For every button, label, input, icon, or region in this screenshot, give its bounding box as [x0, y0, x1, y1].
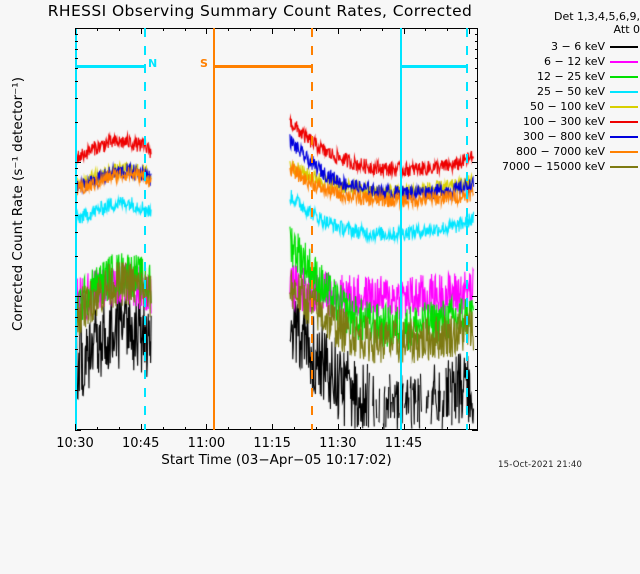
tick-mark: [338, 424, 339, 430]
legend-label: 12 − 25 keV: [502, 69, 610, 84]
tick-mark: [447, 28, 448, 31]
tick-mark: [475, 49, 478, 50]
tick-mark: [472, 28, 478, 29]
tick-mark: [475, 122, 478, 123]
tick-mark: [475, 336, 478, 337]
tick-mark: [75, 58, 78, 59]
tick-mark: [75, 296, 81, 297]
legend-swatch: [610, 106, 638, 108]
legend-entries: 3 − 6 keV6 − 12 keV12 − 25 keV25 − 50 ke…: [502, 39, 640, 174]
legend-swatch: [610, 46, 638, 48]
tick-mark: [75, 49, 78, 50]
tick-mark: [316, 28, 317, 31]
tick-mark: [475, 317, 478, 318]
tick-mark: [475, 302, 478, 303]
x-axis-title: Start Time (03−Apr−05 10:17:02): [75, 452, 478, 468]
tick-mark: [475, 192, 478, 193]
tick-mark: [294, 28, 295, 31]
tick-mark: [75, 162, 81, 163]
tick-mark: [425, 28, 426, 31]
legend-item: 25 − 50 keV: [502, 84, 640, 99]
tick-mark: [163, 427, 164, 430]
tick-mark: [75, 98, 78, 99]
tick-mark: [75, 366, 78, 367]
tick-mark: [469, 28, 470, 34]
event-bar-saa: [213, 65, 311, 68]
legend-swatch-cell: [610, 144, 640, 159]
legend-label: 3 − 6 keV: [502, 39, 610, 54]
x-tick-label: 11:45: [364, 436, 444, 451]
event-bar-night-2: [400, 65, 466, 68]
tick-mark: [475, 390, 478, 391]
tick-mark: [425, 427, 426, 430]
tick-mark: [75, 336, 78, 337]
tick-mark: [75, 122, 78, 123]
tick-mark: [475, 256, 478, 257]
legend-swatch: [610, 91, 638, 93]
tick-mark: [75, 68, 78, 69]
legend-label: 50 − 100 keV: [502, 99, 610, 114]
tick-mark: [141, 424, 142, 430]
event-flag-saa: S: [200, 57, 208, 70]
tick-mark: [75, 326, 78, 327]
tick-mark: [228, 28, 229, 31]
tick-mark: [75, 424, 76, 430]
tick-mark: [75, 430, 81, 431]
tick-mark: [75, 28, 76, 34]
legend-swatch-cell: [610, 129, 640, 144]
tick-mark: [404, 28, 405, 34]
tick-mark: [472, 296, 478, 297]
legend-item: 7000 − 15000 keV: [502, 159, 640, 174]
legend-swatch-cell: [610, 114, 640, 129]
tick-mark: [404, 424, 405, 430]
legend-swatch: [610, 166, 638, 168]
tick-mark: [294, 427, 295, 430]
tick-mark: [119, 28, 120, 31]
legend-swatch-cell: [610, 54, 640, 69]
tick-mark: [75, 192, 78, 193]
tick-mark: [141, 28, 142, 34]
tick-mark: [97, 28, 98, 31]
tick-mark: [475, 326, 478, 327]
tick-mark: [475, 202, 478, 203]
event-dash-night-1: [144, 28, 146, 430]
tick-mark: [250, 28, 251, 31]
legend-swatch: [610, 76, 638, 78]
tick-mark: [475, 309, 478, 310]
legend-swatch-cell: [610, 39, 640, 54]
tick-mark: [75, 202, 78, 203]
tick-mark: [475, 98, 478, 99]
tick-mark: [475, 215, 478, 216]
tick-mark: [163, 28, 164, 31]
legend-label: 25 − 50 keV: [502, 84, 610, 99]
legend-item: 300 − 800 keV: [502, 129, 640, 144]
event-dash-night-2: [466, 28, 468, 430]
tick-mark: [475, 58, 478, 59]
legend-item: 100 − 300 keV: [502, 114, 640, 129]
tick-mark: [75, 175, 78, 176]
legend-swatch-cell: [610, 69, 640, 84]
tick-mark: [475, 349, 478, 350]
tick-mark: [75, 41, 78, 42]
tick-mark: [75, 349, 78, 350]
legend: Det 1,3,4,5,6,9, Att 0 3 − 6 keV6 − 12 k…: [486, 10, 640, 174]
tick-mark: [469, 424, 470, 430]
y-axis-highlight: [75, 28, 77, 430]
legend-swatch-cell: [610, 99, 640, 114]
tick-mark: [75, 317, 78, 318]
legend-label: 6 − 12 keV: [502, 54, 610, 69]
legend-label: 300 − 800 keV: [502, 129, 610, 144]
tick-mark: [75, 81, 78, 82]
tick-mark: [475, 232, 478, 233]
plot-area: NS: [75, 28, 478, 430]
tick-mark: [250, 427, 251, 430]
tick-mark: [75, 256, 78, 257]
tick-mark: [75, 302, 78, 303]
legend-label: 7000 − 15000 keV: [502, 159, 610, 174]
event-bar-night-1: [76, 65, 144, 68]
event-dash-saa: [311, 28, 313, 430]
tick-mark: [475, 183, 478, 184]
tick-mark: [475, 81, 478, 82]
legend-swatch-cell: [610, 84, 640, 99]
legend-item: 12 − 25 keV: [502, 69, 640, 84]
tick-mark: [338, 28, 339, 34]
tick-mark: [447, 427, 448, 430]
event-line-saa: [213, 28, 215, 430]
tick-mark: [75, 309, 78, 310]
tick-mark: [382, 28, 383, 31]
tick-mark: [475, 168, 478, 169]
tick-mark: [185, 28, 186, 31]
tick-mark: [97, 427, 98, 430]
legend-item: 50 − 100 keV: [502, 99, 640, 114]
rhessi-plot-window: RHESSI Observing Summary Count Rates, Co…: [0, 0, 640, 480]
tick-mark: [206, 424, 207, 430]
tick-mark: [228, 427, 229, 430]
tick-mark: [475, 175, 478, 176]
tick-mark: [272, 424, 273, 430]
event-line-night-2: [400, 28, 402, 430]
tick-mark: [75, 215, 78, 216]
legend-swatch: [610, 61, 638, 63]
tick-mark: [472, 162, 478, 163]
tick-mark: [75, 168, 78, 169]
tick-mark: [475, 366, 478, 367]
tick-mark: [472, 430, 478, 431]
tick-mark: [382, 427, 383, 430]
legend-swatch: [610, 136, 638, 138]
tick-mark: [75, 390, 78, 391]
tick-mark: [475, 68, 478, 69]
legend-swatch-cell: [610, 159, 640, 174]
tick-mark: [185, 427, 186, 430]
event-flag-night-1: N: [148, 57, 157, 70]
tick-mark: [360, 28, 361, 31]
tick-mark: [206, 28, 207, 34]
render-timestamp: 15-Oct-2021 21:40: [498, 460, 582, 470]
tick-mark: [75, 183, 78, 184]
legend-swatch: [610, 121, 638, 123]
tick-mark: [316, 427, 317, 430]
legend-label: 100 − 300 keV: [502, 114, 610, 129]
page-title: RHESSI Observing Summary Count Rates, Co…: [0, 2, 520, 20]
tick-mark: [475, 34, 478, 35]
data-canvas: [75, 28, 478, 430]
tick-mark: [475, 41, 478, 42]
tick-mark: [75, 34, 78, 35]
legend-label: 800 − 7000 keV: [502, 144, 610, 159]
legend-swatch: [610, 151, 638, 153]
tick-mark: [75, 232, 78, 233]
legend-detector-info: Det 1,3,4,5,6,9, Att 0: [486, 10, 640, 36]
legend-item: 6 − 12 keV: [502, 54, 640, 69]
legend-item: 3 − 6 keV: [502, 39, 640, 54]
legend-item: 800 − 7000 keV: [502, 144, 640, 159]
tick-mark: [360, 427, 361, 430]
tick-mark: [272, 28, 273, 34]
tick-mark: [119, 427, 120, 430]
y-axis-title: Corrected Count Rate (s⁻¹ detector⁻¹): [10, 0, 26, 574]
